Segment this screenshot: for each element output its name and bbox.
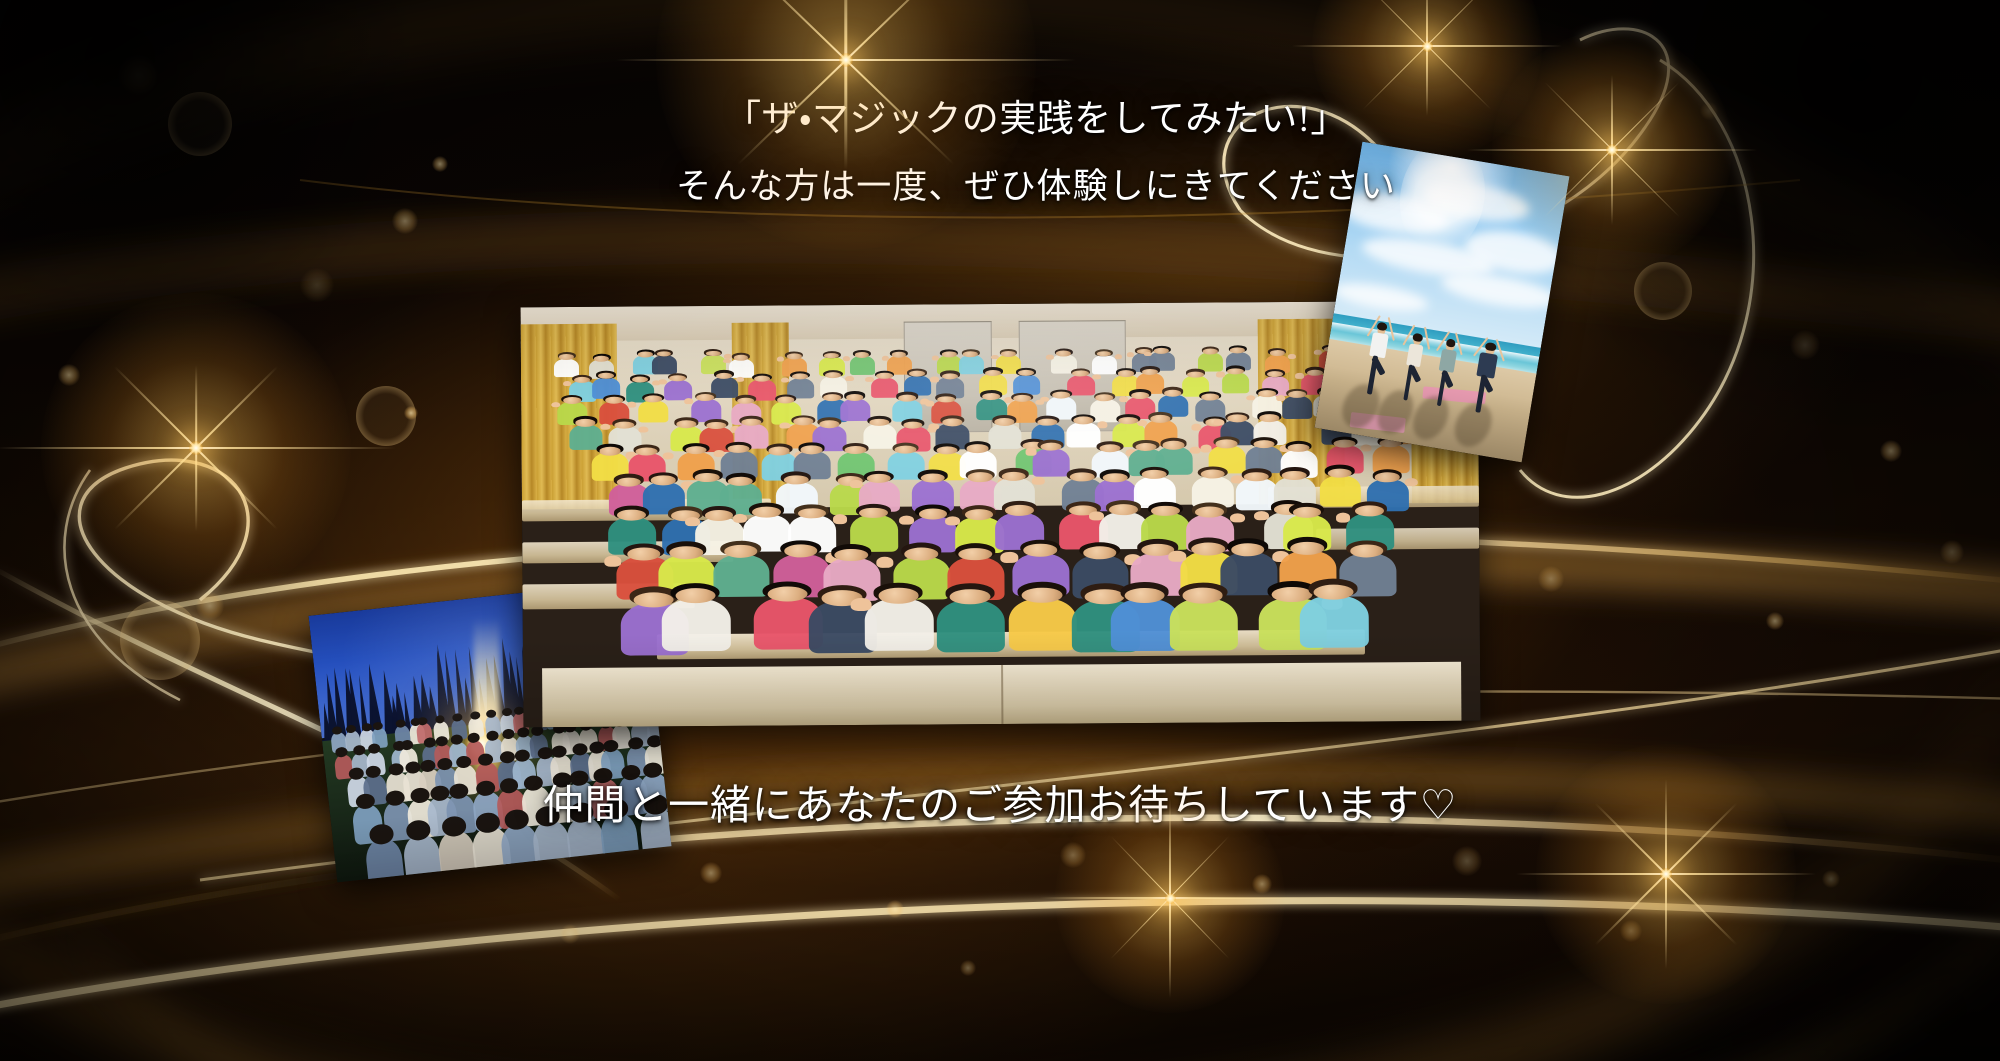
hero-banner: 「ザ・マジックの実践をしてみたい!」 そんな方は一度、ぜひ体験しにきてください … [0, 0, 2000, 1061]
headline-line-3: 仲間と一緒にあなたのご参加お待ちしています♡ [0, 781, 2000, 830]
headline-line-1: 「ザ・マジックの実践をしてみたい!」 [0, 98, 2000, 142]
headline-line-2: そんな方は一度、ぜひ体験しにきてください [0, 166, 2000, 208]
front-desk [542, 662, 1461, 727]
